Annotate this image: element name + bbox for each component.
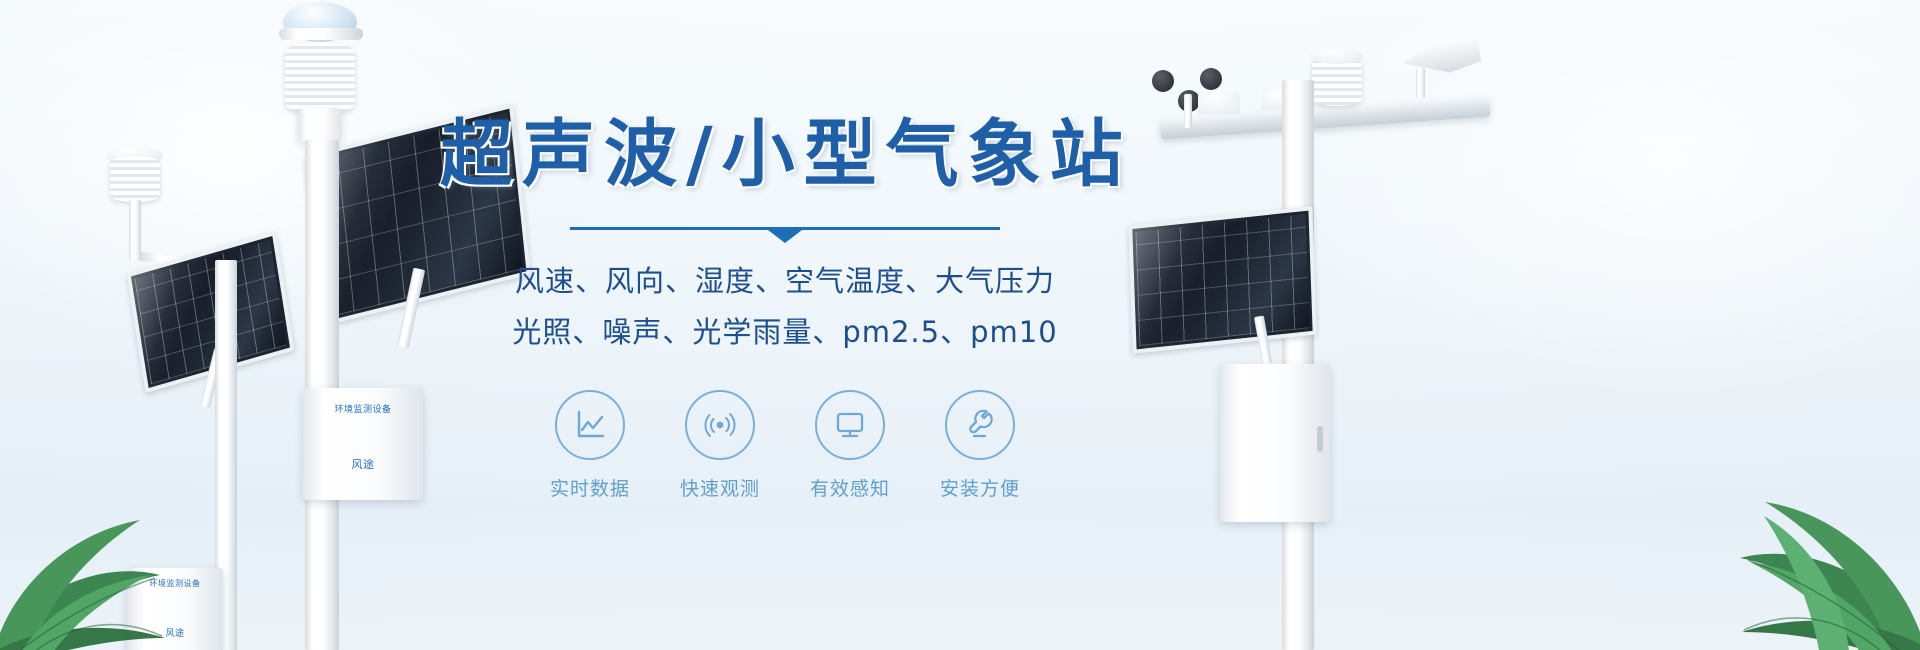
feature-label: 实时数据 bbox=[547, 474, 633, 501]
anemometer-cup bbox=[1200, 68, 1222, 90]
feature-icon-circle bbox=[555, 390, 625, 460]
shield-cap-icon bbox=[1310, 48, 1364, 64]
weather-station-right bbox=[1140, 20, 1560, 650]
feature-item-effective-sensing[interactable]: 有效感知 bbox=[807, 390, 893, 501]
solar-panel-right bbox=[1128, 206, 1316, 354]
anemometer-cup bbox=[1152, 70, 1174, 92]
cabinet-label-main: 环境监测设备 bbox=[303, 402, 423, 415]
subtitle-line-2: 光照、噪声、光学雨量、pm2.5、pm10 bbox=[440, 309, 1130, 356]
feature-list: 实时数据 快速观测 bbox=[440, 390, 1130, 501]
feature-icon-circle bbox=[685, 390, 755, 460]
wind-vane-stem bbox=[1416, 68, 1425, 98]
cabinet-brand-main: 风途 bbox=[303, 456, 423, 472]
feature-item-easy-install[interactable]: 安装方便 bbox=[937, 390, 1023, 501]
subtitle-line-1: 风速、风向、湿度、空气温度、大气压力 bbox=[440, 258, 1130, 305]
cabinet-latch bbox=[1317, 426, 1323, 452]
feature-label: 有效感知 bbox=[807, 474, 893, 501]
title-divider bbox=[570, 227, 1000, 230]
radiation-shield bbox=[110, 156, 160, 202]
foliage-right bbox=[1550, 340, 1920, 650]
feature-label: 快速观测 bbox=[677, 474, 763, 501]
feature-label: 安装方便 bbox=[937, 474, 1023, 501]
ultrasonic-arms bbox=[279, 28, 363, 40]
product-banner: 环境监测设备 风途 环境监测设备 风途 bbox=[0, 0, 1920, 650]
control-cabinet-right bbox=[1220, 364, 1330, 522]
page-title: 超声波/小型气象站 bbox=[440, 118, 1130, 191]
feature-icon-circle bbox=[945, 390, 1015, 460]
sensor-stem bbox=[129, 200, 141, 260]
signal-sensor-icon bbox=[701, 406, 739, 444]
wind-vane-fin bbox=[1400, 33, 1483, 80]
wrench-icon bbox=[961, 406, 999, 444]
sensor-junction-box bbox=[299, 108, 341, 142]
feature-icon-circle bbox=[815, 390, 885, 460]
solar-panel-surface-right bbox=[1128, 206, 1316, 354]
feature-item-fast-observation[interactable]: 快速观测 bbox=[677, 390, 763, 501]
banner-content: 超声波/小型气象站 风速、风向、湿度、空气温度、大气压力 光照、噪声、光学雨量、… bbox=[440, 118, 1130, 501]
control-cabinet-main: 环境监测设备 风途 bbox=[303, 388, 423, 500]
line-chart-icon bbox=[571, 406, 609, 444]
anemometer-stem bbox=[1184, 94, 1192, 128]
feature-item-realtime-data[interactable]: 实时数据 bbox=[547, 390, 633, 501]
wind-vane bbox=[1372, 38, 1482, 100]
mount-foot bbox=[1198, 92, 1240, 114]
monitor-icon bbox=[831, 406, 869, 444]
foliage-left bbox=[0, 370, 320, 650]
radiation-shield-main bbox=[285, 42, 355, 114]
